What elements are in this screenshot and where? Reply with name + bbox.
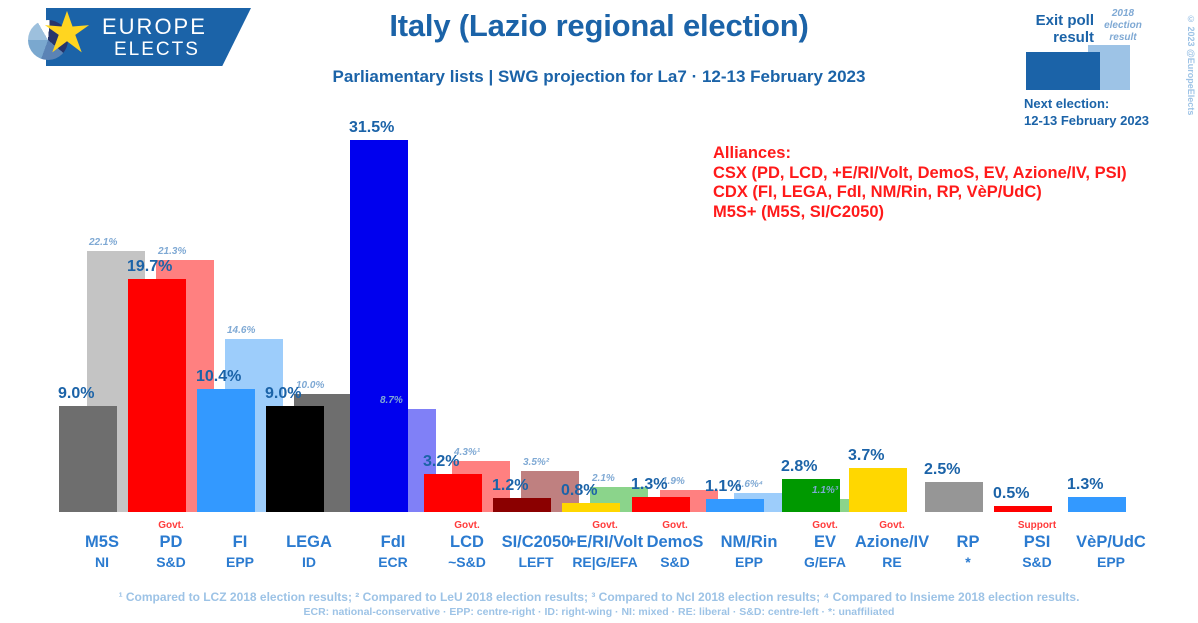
bar-value-LEGA: 9.0% [265,385,301,403]
party-name: VèP/UdC [1036,532,1186,553]
bar-value-PD: 19.7% [127,258,172,276]
bar-value-FdI: 31.5% [349,119,394,137]
footnote-comparisons: ¹ Compared to LCZ 2018 election results;… [0,590,1198,604]
footnote-eu-groups: ECR: national-conservative · EPP: centre… [0,606,1198,618]
bar-value-VèP/UdC: 1.3% [1067,476,1103,494]
bar-value-SI/C2050: 1.2% [492,477,528,495]
bar-exitpoll-FI [197,389,255,512]
bar-value-RP: 2.5% [924,461,960,479]
bar-exitpoll-FdI [350,140,408,512]
x-axis-label-VèP/UdC: VèP/UdCEPP [1036,519,1186,572]
bar-exitpoll-PD [128,279,186,512]
bar-value-FI: 10.4% [196,368,241,386]
bar-value-M5S: 9.0% [58,385,94,403]
bar-value-EV: 2.8% [781,458,817,476]
bar-group: 1.3% [1068,112,1154,512]
bar-group: 1.6%⁴1.1% [706,112,792,512]
bar-value-NM/Rin: 1.1% [705,478,741,496]
bar-chart: 22.1%9.0%M5SNI21.3%19.7%Govt.PDS&D14.6%1… [0,0,1198,623]
bar-group: 3.7% [849,112,935,512]
bar-exitpoll-DemoS [632,497,690,512]
bar-exitpoll-+E/RI/Volt [562,503,620,512]
govt-status-badge [1036,519,1186,532]
bar-2018-value-EV: 1.1%³ [812,485,838,496]
eu-group-name: EPP [1036,553,1186,572]
bar-exitpoll-RP [925,482,983,512]
bar-value-LCD: 3.2% [423,453,459,471]
bar-exitpoll-VèP/UdC [1068,497,1126,512]
bar-2018-value-M5S: 22.1% [89,237,117,248]
bar-value-Azione/IV: 3.7% [848,447,884,465]
bar-exitpoll-LCD [424,474,482,512]
bar-value-+E/RI/Volt: 0.8% [561,482,597,500]
bar-exitpoll-M5S [59,406,117,512]
bar-2018-value-PD: 21.3% [158,246,186,257]
bar-value-PSI: 0.5% [993,485,1029,503]
bar-value-DemoS: 1.3% [631,476,667,494]
bar-2018-value-FdI: 8.7% [380,395,403,406]
bar-exitpoll-Azione/IV [849,468,907,512]
bar-exitpoll-LEGA [266,406,324,512]
bar-group: 10.0%9.0% [266,112,352,512]
bar-2018-value-FI: 14.6% [227,325,255,336]
bar-exitpoll-PSI [994,506,1052,512]
bar-exitpoll-NM/Rin [706,499,764,512]
legend-swatch-new [1026,52,1100,90]
bar-2018-value-SI/C2050: 3.5%² [523,457,549,468]
bar-exitpoll-SI/C2050 [493,498,551,512]
